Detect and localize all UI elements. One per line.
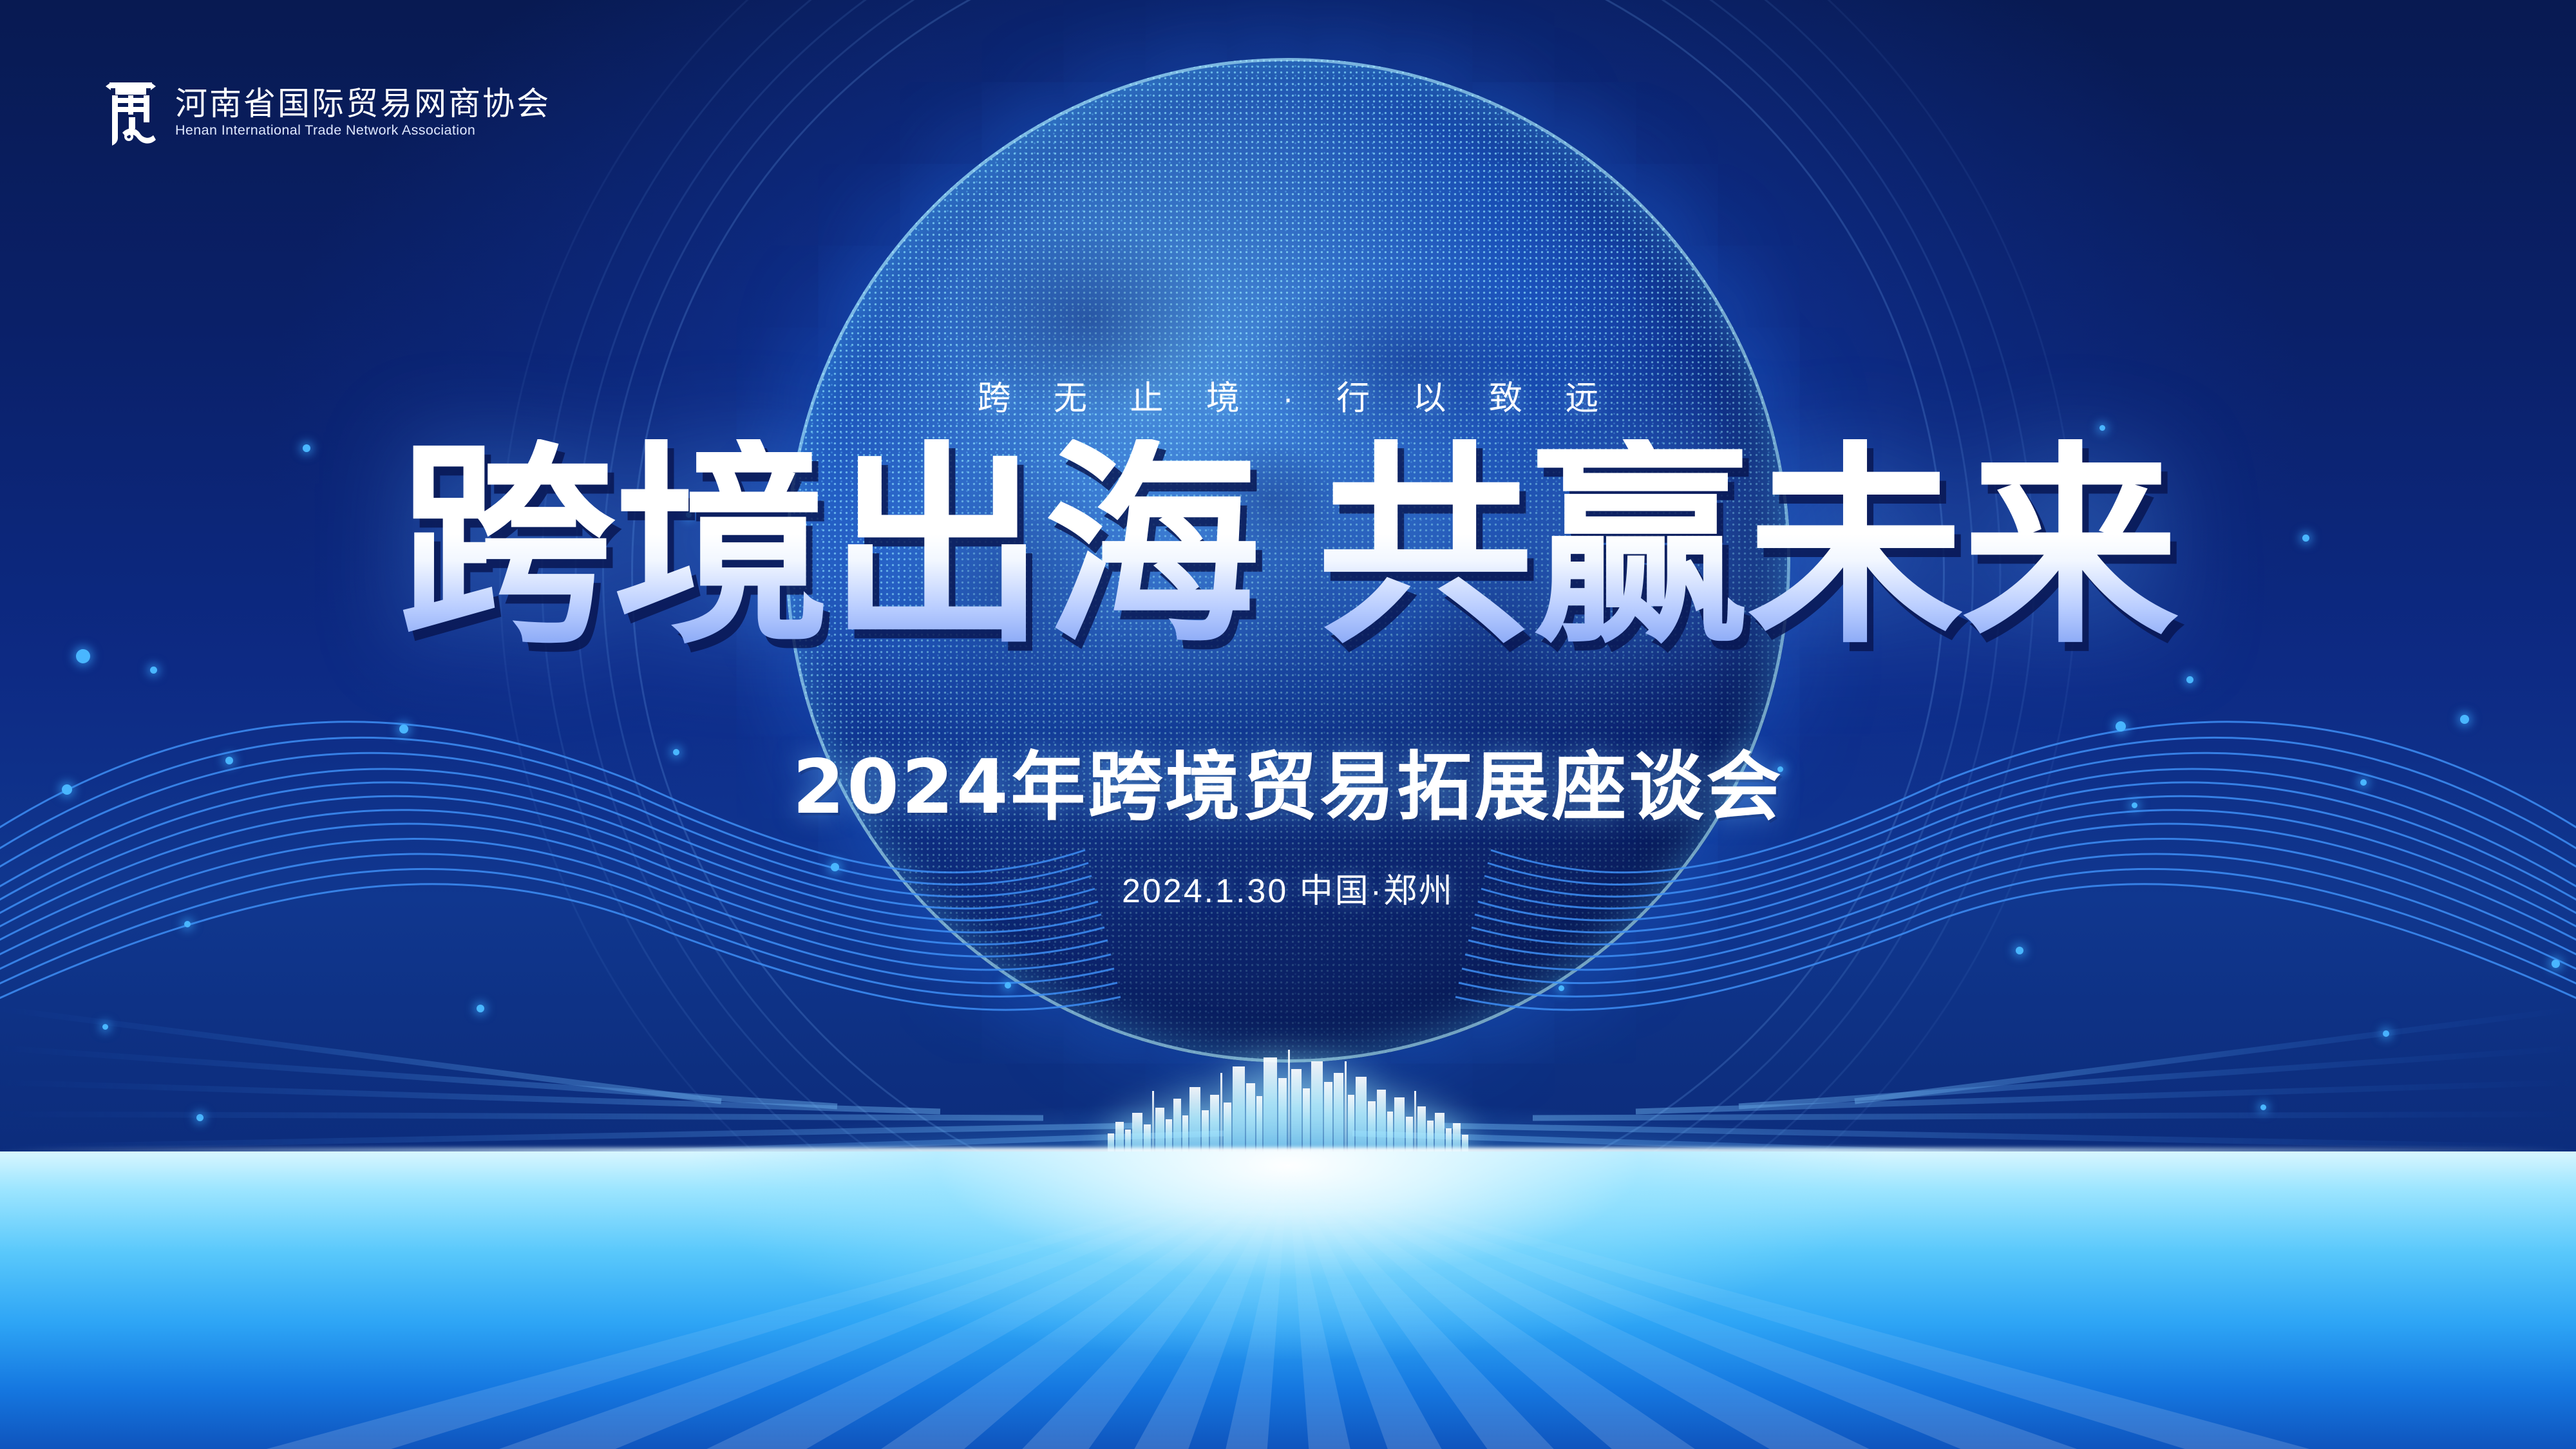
association-name-cn: 河南省国际贸易网商协会 xyxy=(175,88,551,120)
headline-part-right: 共赢未来 xyxy=(1317,421,2177,673)
headline-part-left: 跨境出海 xyxy=(399,421,1259,673)
event-tagline: 跨 无 止 境 · 行 以 致 远 xyxy=(0,371,2576,419)
association-name-en: Henan International Trade Network Associ… xyxy=(175,124,551,138)
city-skyline-icon xyxy=(1108,1048,1468,1158)
event-subtitle: 2024年跨境贸易拓展座谈会 xyxy=(0,750,2576,825)
seal-script-emblem-icon xyxy=(103,77,158,148)
banner-poster: 河南省国际贸易网商协会 Henan International Trade Ne… xyxy=(0,0,2576,1449)
ground-plane xyxy=(0,1151,2576,1449)
ground-light-rays xyxy=(0,1151,2576,1449)
event-date-location: 2024.1.30 中国·郑州 xyxy=(0,875,2576,908)
association-logo: 河南省国际贸易网商协会 Henan International Trade Ne… xyxy=(103,77,551,148)
event-headline: 跨境出海共赢未来 xyxy=(0,439,2576,656)
